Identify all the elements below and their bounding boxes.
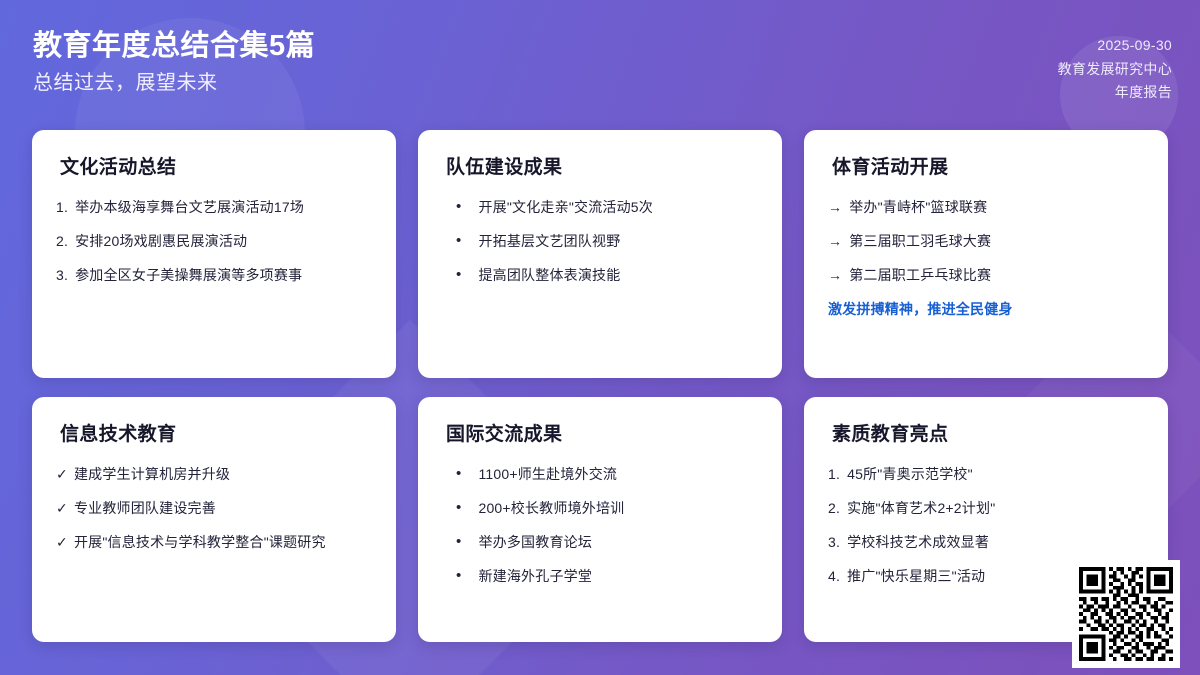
list-item-text: 第三届职工羽毛球大赛 [849, 231, 1144, 252]
card-item-list: 1.举办本级海享舞台文艺展演活动17场2.安排20场戏剧惠民展演活动3.参加全区… [56, 197, 372, 286]
list-item: →举办"青峙杯"篮球联赛 [828, 197, 1144, 218]
card-title: 国际交流成果 [442, 419, 758, 446]
list-item-text: 提高团队整体表演技能 [478, 265, 758, 286]
list-marker-icon: • [456, 265, 461, 285]
list-item-text: 学校科技艺术成效显著 [847, 532, 1144, 553]
card-title: 信息技术教育 [56, 419, 372, 446]
slide-root: 教育年度总结合集5篇 总结过去，展望未来 2025-09-30 教育发展研究中心… [0, 0, 1200, 675]
summary-card: 文化活动总结1.举办本级海享舞台文艺展演活动17场2.安排20场戏剧惠民展演活动… [32, 130, 396, 378]
list-item-text: 1100+师生赴境外交流 [478, 464, 758, 485]
list-marker-icon: 3. [828, 532, 840, 553]
list-item-text: 举办多国教育论坛 [478, 532, 758, 553]
list-marker-icon: 2. [56, 231, 68, 252]
card-item-list: •1100+师生赴境外交流•200+校长教师境外培训•举办多国教育论坛•新建海外… [442, 464, 758, 587]
list-item: •200+校长教师境外培训 [442, 498, 758, 519]
list-item: →第三届职工羽毛球大赛 [828, 231, 1144, 252]
list-marker-icon: ✓ [56, 464, 68, 485]
summary-card: 体育活动开展→举办"青峙杯"篮球联赛→第三届职工羽毛球大赛→第二届职工乒乓球比赛… [804, 130, 1168, 378]
qr-code[interactable] [1072, 560, 1180, 668]
summary-card: 信息技术教育✓建成学生计算机房并升级✓专业教师团队建设完善✓开展"信息技术与学科… [32, 397, 396, 642]
list-marker-icon: 1. [828, 464, 840, 485]
list-item: •1100+师生赴境外交流 [442, 464, 758, 485]
list-item: 2.实施"体育艺术2+2计划" [828, 498, 1144, 519]
card-title: 素质教育亮点 [828, 419, 1144, 446]
list-item: ✓开展"信息技术与学科教学整合"课题研究 [56, 532, 372, 553]
list-marker-icon: 2. [828, 498, 840, 519]
list-item-text: 建成学生计算机房并升级 [74, 464, 372, 485]
list-item-text: 参加全区女子美操舞展演等多项赛事 [75, 265, 372, 286]
card-highlight-note: 激发拼搏精神，推进全民健身 [828, 299, 1144, 319]
list-item-text: 举办"青峙杯"篮球联赛 [849, 197, 1144, 218]
list-marker-icon: → [828, 265, 842, 286]
list-marker-icon: → [828, 231, 842, 252]
list-item: 3.参加全区女子美操舞展演等多项赛事 [56, 265, 372, 286]
header-title-block: 教育年度总结合集5篇 总结过去，展望未来 [33, 28, 315, 96]
organization-name: 教育发展研究中心 [1058, 58, 1172, 82]
list-item: •举办多国教育论坛 [442, 532, 758, 553]
card-item-list: •开展"文化走亲"交流活动5次•开拓基层文艺团队视野•提高团队整体表演技能 [442, 197, 758, 286]
list-item-text: 开展"文化走亲"交流活动5次 [478, 197, 758, 218]
list-item-text: 45所"青奥示范学校" [847, 464, 1144, 485]
list-item: •提高团队整体表演技能 [442, 265, 758, 286]
list-item: •开拓基层文艺团队视野 [442, 231, 758, 252]
list-item: 1.举办本级海享舞台文艺展演活动17场 [56, 197, 372, 218]
list-marker-icon: • [456, 532, 461, 552]
list-item: ✓建成学生计算机房并升级 [56, 464, 372, 485]
header-meta-block: 2025-09-30 教育发展研究中心 年度报告 [1058, 34, 1172, 105]
list-marker-icon: • [456, 566, 461, 586]
report-date: 2025-09-30 [1058, 34, 1172, 58]
list-item: •开展"文化走亲"交流活动5次 [442, 197, 758, 218]
card-title: 队伍建设成果 [442, 152, 758, 179]
card-item-list: →举办"青峙杯"篮球联赛→第三届职工羽毛球大赛→第二届职工乒乓球比赛 [828, 197, 1144, 286]
summary-card: 国际交流成果•1100+师生赴境外交流•200+校长教师境外培训•举办多国教育论… [418, 397, 782, 642]
list-item: •新建海外孔子学堂 [442, 566, 758, 587]
list-item-text: 实施"体育艺术2+2计划" [847, 498, 1144, 519]
report-type-label: 年度报告 [1058, 81, 1172, 105]
card-title: 体育活动开展 [828, 152, 1144, 179]
list-marker-icon: → [828, 197, 842, 218]
list-marker-icon: 4. [828, 566, 840, 587]
list-item: 3.学校科技艺术成效显著 [828, 532, 1144, 553]
page-title: 教育年度总结合集5篇 [33, 28, 315, 64]
summary-card: 队伍建设成果•开展"文化走亲"交流活动5次•开拓基层文艺团队视野•提高团队整体表… [418, 130, 782, 378]
list-item-text: 第二届职工乒乓球比赛 [849, 265, 1144, 286]
list-marker-icon: • [456, 231, 461, 251]
list-marker-icon: 1. [56, 197, 68, 218]
list-item: ✓专业教师团队建设完善 [56, 498, 372, 519]
card-item-list: ✓建成学生计算机房并升级✓专业教师团队建设完善✓开展"信息技术与学科教学整合"课… [56, 464, 372, 553]
list-marker-icon: • [456, 464, 461, 484]
list-marker-icon: ✓ [56, 498, 68, 519]
page-subtitle: 总结过去，展望未来 [33, 70, 315, 96]
list-item-text: 200+校长教师境外培训 [478, 498, 758, 519]
card-title: 文化活动总结 [56, 152, 372, 179]
list-item-text: 举办本级海享舞台文艺展演活动17场 [75, 197, 372, 218]
card-grid: 文化活动总结1.举办本级海享舞台文艺展演活动17场2.安排20场戏剧惠民展演活动… [32, 130, 1168, 642]
list-item-text: 安排20场戏剧惠民展演活动 [75, 231, 372, 252]
list-item-text: 开拓基层文艺团队视野 [478, 231, 758, 252]
qr-code-icon [1079, 567, 1173, 661]
list-item-text: 专业教师团队建设完善 [74, 498, 372, 519]
slide-header: 教育年度总结合集5篇 总结过去，展望未来 2025-09-30 教育发展研究中心… [0, 0, 1200, 120]
list-item: 1.45所"青奥示范学校" [828, 464, 1144, 485]
list-item: 2.安排20场戏剧惠民展演活动 [56, 231, 372, 252]
list-marker-icon: 3. [56, 265, 68, 286]
list-item-text: 开展"信息技术与学科教学整合"课题研究 [74, 532, 372, 553]
list-marker-icon: • [456, 498, 461, 518]
list-item: →第二届职工乒乓球比赛 [828, 265, 1144, 286]
list-marker-icon: ✓ [56, 532, 68, 553]
list-marker-icon: • [456, 197, 461, 217]
list-item-text: 新建海外孔子学堂 [478, 566, 758, 587]
